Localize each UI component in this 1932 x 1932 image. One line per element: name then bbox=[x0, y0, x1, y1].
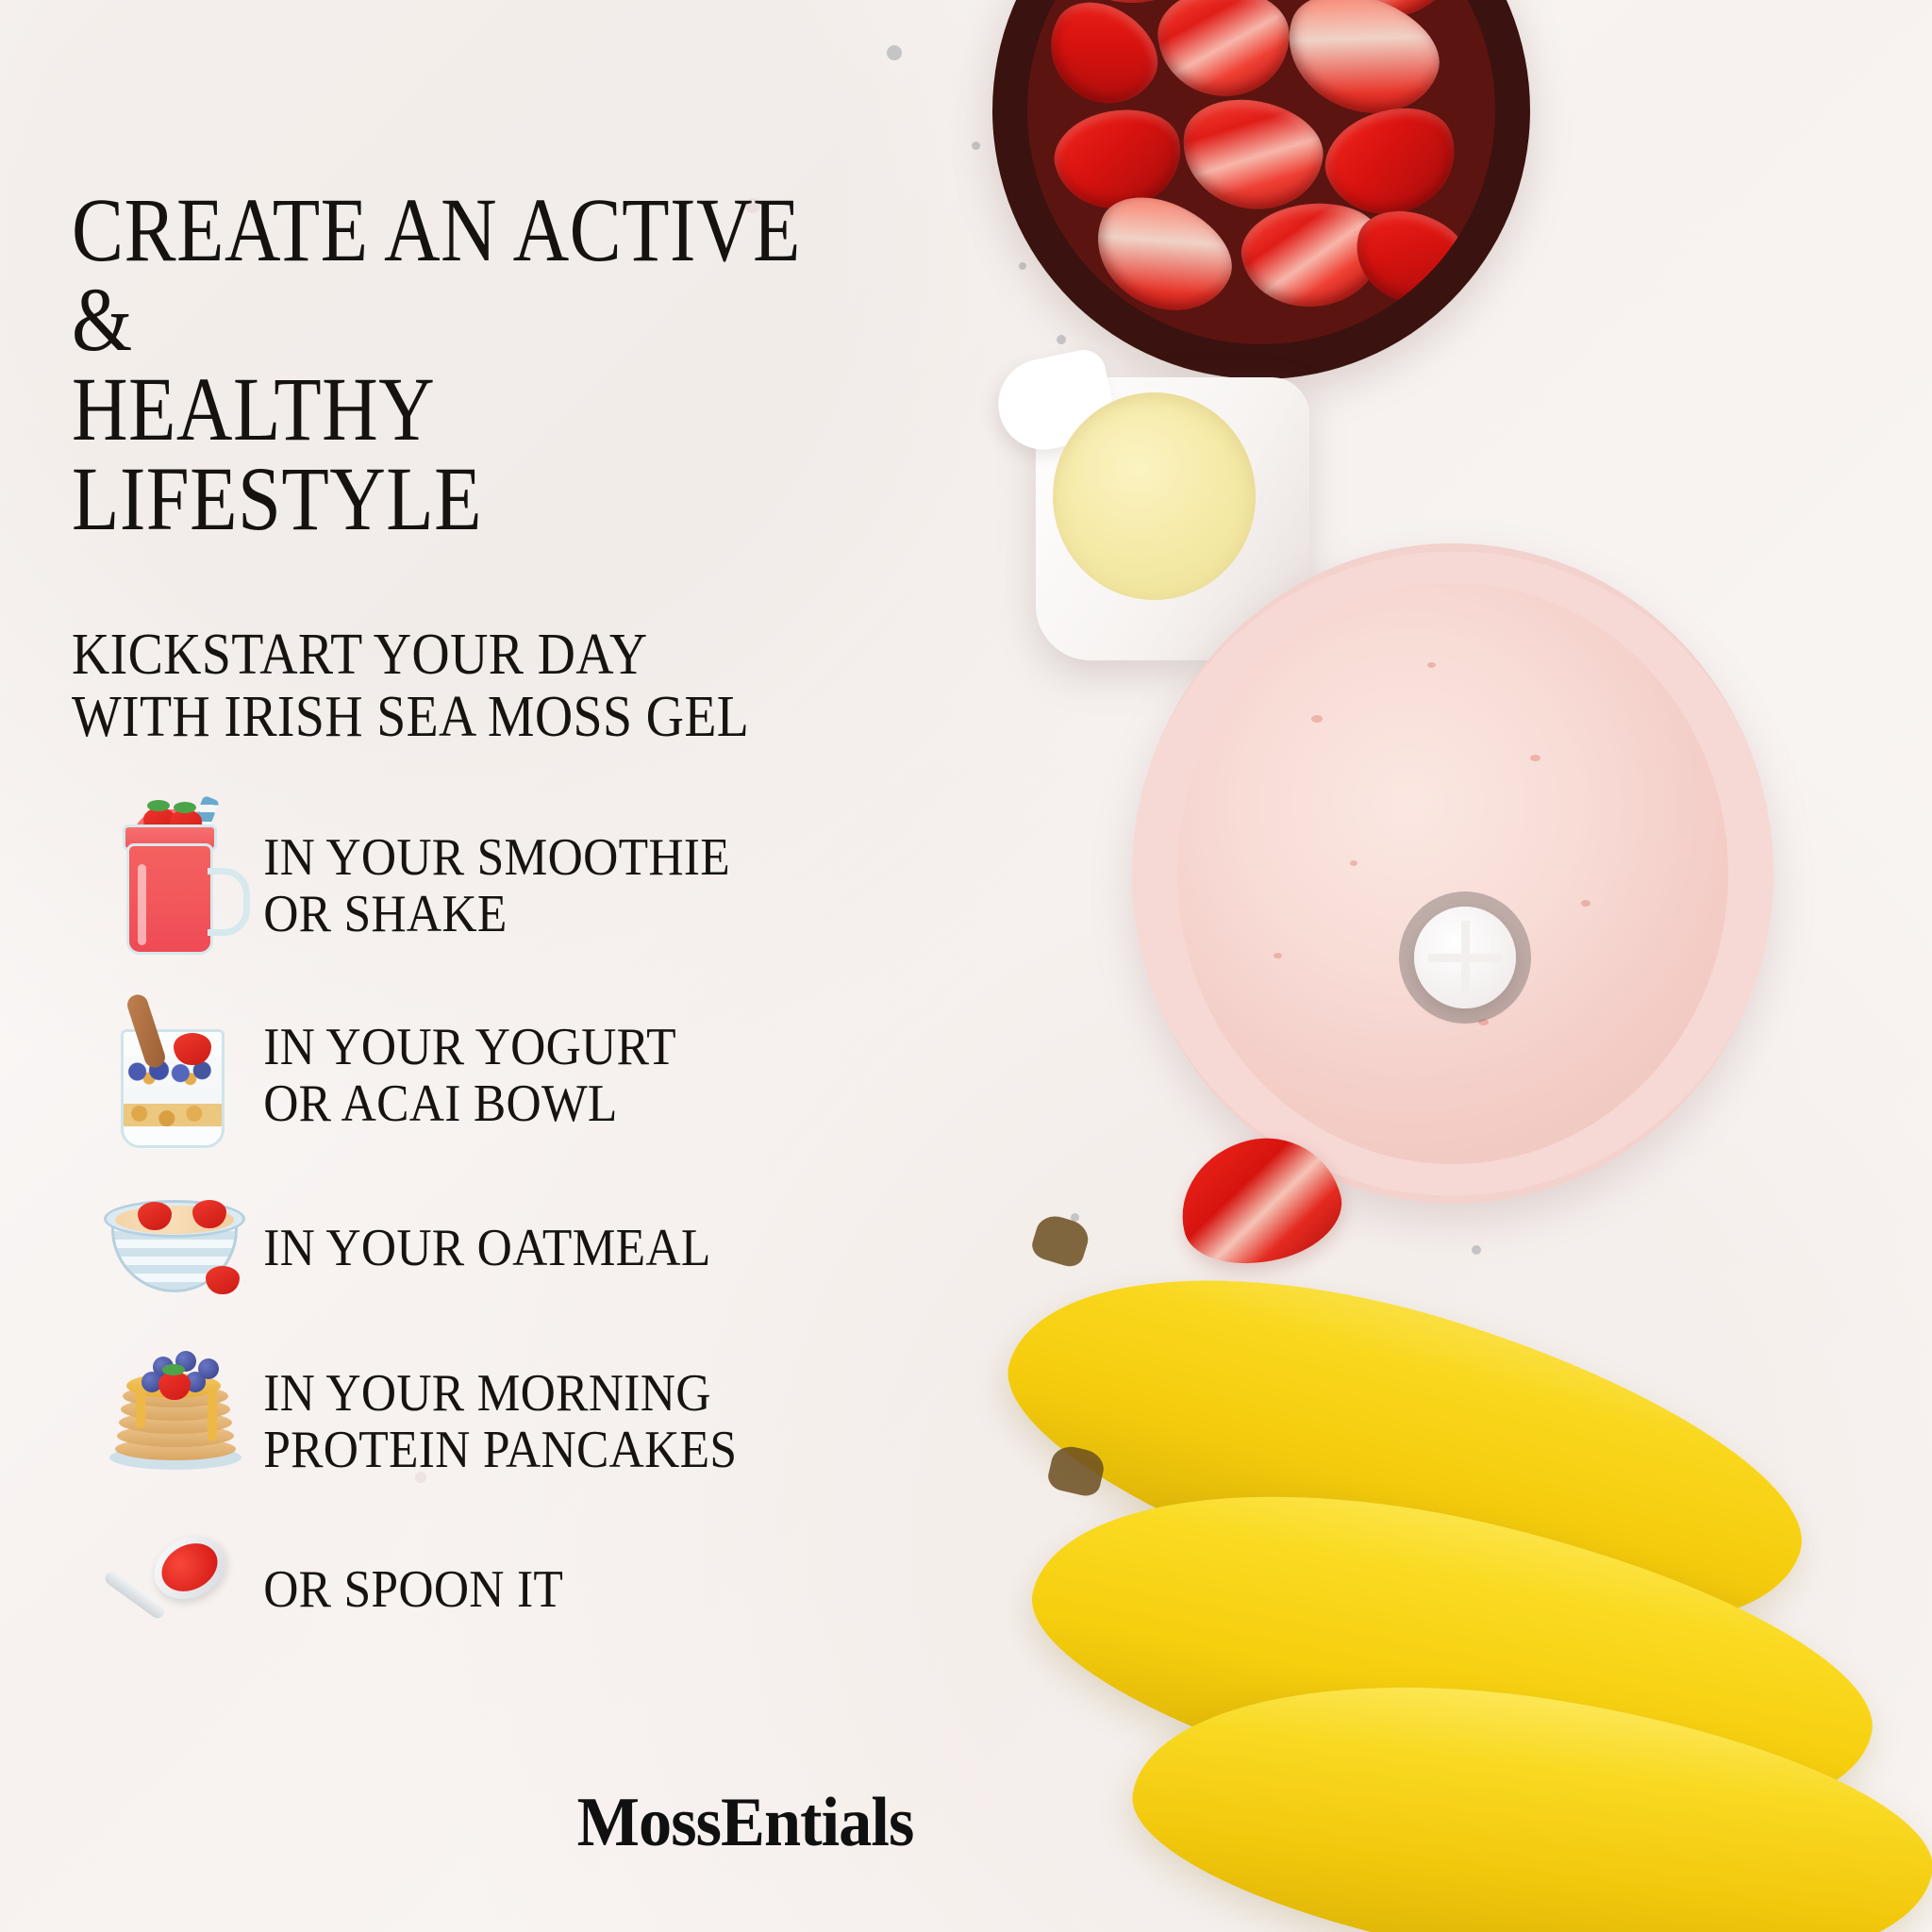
list-item[interactable]: IN YOUR OATMEAL bbox=[94, 1174, 981, 1324]
list-item[interactable]: IN YOUR MORNING PROTEIN PANCAKES bbox=[94, 1340, 981, 1505]
jam-spoon-icon bbox=[94, 1520, 255, 1661]
usage-list: IN YOUR SMOOTHIE OR SHAKE bbox=[94, 794, 981, 1676]
oatmeal-bowl-icon bbox=[94, 1174, 255, 1324]
brand-logo: MossEntials bbox=[38, 1783, 1454, 1863]
subheading: KICKSTART YOUR DAY WITH IRISH SEA MOSS G… bbox=[72, 625, 878, 748]
poster-canvas: CREATE AN ACTIVE & HEALTHY LIFESTYLE KIC… bbox=[0, 0, 1932, 1932]
list-item[interactable]: IN YOUR YOGURT OR ACAI BOWL bbox=[94, 993, 981, 1158]
food-processor-with-strawberry-smoothie bbox=[1132, 543, 1774, 1204]
surface-speck bbox=[1472, 1245, 1481, 1255]
list-item-label: IN YOUR OATMEAL bbox=[255, 1221, 711, 1276]
surface-speck bbox=[1057, 335, 1066, 344]
yogurt-parfait-icon bbox=[94, 993, 255, 1158]
list-item-label: IN YOUR MORNING PROTEIN PANCAKES bbox=[255, 1366, 737, 1478]
surface-speck bbox=[1019, 262, 1026, 270]
list-item-label: OR SPOON IT bbox=[255, 1562, 563, 1618]
list-item-label: IN YOUR YOGURT OR ACAI BOWL bbox=[255, 1020, 676, 1132]
smoothie-jar-icon bbox=[94, 794, 255, 978]
page-title: CREATE AN ACTIVE & HEALTHY LIFESTYLE bbox=[72, 185, 826, 543]
list-item-label: IN YOUR SMOOTHIE OR SHAKE bbox=[255, 830, 730, 942]
list-item[interactable]: IN YOUR SMOOTHIE OR SHAKE bbox=[94, 794, 981, 978]
list-item[interactable]: OR SPOON IT bbox=[94, 1520, 981, 1661]
pancake-stack-icon bbox=[94, 1340, 255, 1505]
blender-hub-icon bbox=[1414, 907, 1516, 1008]
text-column: CREATE AN ACTIVE & HEALTHY LIFESTYLE KIC… bbox=[0, 0, 981, 1932]
